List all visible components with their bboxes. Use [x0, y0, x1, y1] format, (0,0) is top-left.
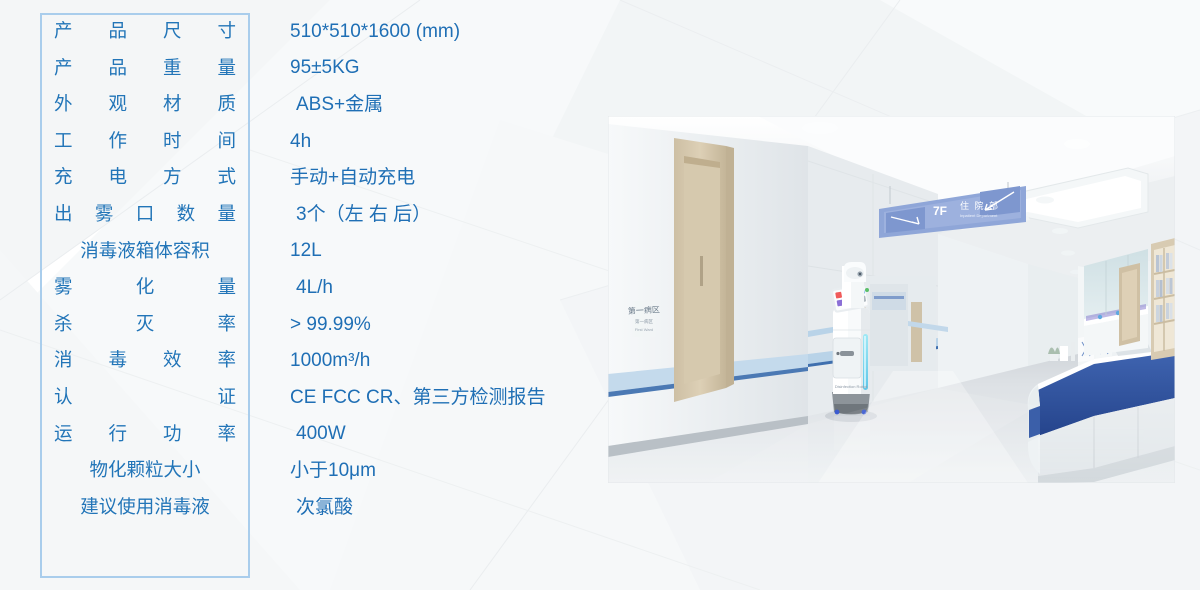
svg-text:First Ward: First Ward: [635, 327, 653, 332]
spec-label-operating-power: 运行功率: [40, 416, 250, 453]
spec-value-operating-power: 400W: [296, 416, 346, 453]
spec-label-atomization-rate: 雾化量: [40, 269, 250, 306]
spec-label-product-size: 产品尺寸: [40, 13, 250, 50]
spec-label-text: 物化颗粒大小: [54, 461, 236, 480]
svg-text:Inpatient Department: Inpatient Department: [960, 213, 998, 218]
spec-row: 充电方式 手动+自动充电: [40, 159, 600, 196]
spec-row: 工作时间 4h: [40, 123, 600, 160]
svg-text:第一病区: 第一病区: [628, 304, 660, 316]
spec-label-product-weight: 产品重量: [40, 50, 250, 87]
spec-label-recommended-disinfectant: 建议使用消毒液: [40, 489, 250, 526]
spec-label-text: 产品尺寸: [54, 22, 236, 41]
spec-row: 杀灭率 > 99.99%: [40, 306, 600, 343]
spec-value-product-weight: 95±5KG: [290, 50, 360, 87]
spec-value-recommended-disinfectant: 次氯酸: [296, 489, 353, 526]
spec-value-atomization-rate: 4L/h: [296, 269, 333, 306]
spec-value-appearance-material: ABS+金属: [296, 86, 383, 123]
spec-value-working-time: 4h: [290, 123, 311, 160]
spec-label-text: 建议使用消毒液: [54, 498, 236, 517]
spec-label-disinfection-efficiency: 消毒效率: [40, 342, 250, 379]
spec-value-kill-rate: > 99.99%: [290, 306, 371, 343]
spec-label-text: 产品重量: [54, 59, 236, 78]
spec-label-text: 出雾口数量: [54, 205, 236, 224]
spec-label-particle-size: 物化颗粒大小: [40, 452, 250, 489]
spec-value-particle-size: 小于10μm: [290, 452, 376, 489]
spec-value-tank-capacity: 12L: [290, 233, 322, 270]
spec-row: 物化颗粒大小 小于10μm: [40, 452, 600, 489]
svg-text:Disinfection Robot: Disinfection Robot: [835, 384, 868, 389]
spec-label-text: 外观材质: [54, 95, 236, 114]
spec-label-text: 雾化量: [54, 278, 236, 297]
spec-row: 外观材质 ABS+金属: [40, 86, 600, 123]
spec-label-text: 消毒液箱体容积: [54, 242, 236, 261]
spec-label-text: 消毒效率: [54, 351, 236, 370]
spec-row: 出雾口数量 3个（左 右 后）: [40, 196, 600, 233]
spec-row: 产品重量 95±5KG: [40, 50, 600, 87]
spec-label-appearance-material: 外观材质: [40, 86, 250, 123]
spec-row: 产品尺寸 510*510*1600 (mm): [40, 13, 600, 50]
spec-row: 建议使用消毒液 次氯酸: [40, 489, 600, 526]
spec-row: 运行功率 400W: [40, 416, 600, 453]
spec-value-charging-method: 手动+自动充电: [290, 159, 415, 196]
shelving-unit: [1151, 238, 1175, 360]
spec-value-product-size: 510*510*1600 (mm): [290, 13, 460, 50]
spec-value-disinfection-efficiency: 1000m³/h: [290, 342, 370, 379]
spec-label-text: 运行功率: [54, 425, 236, 444]
spec-label-text: 认证: [54, 388, 236, 407]
door-sign: 第一病区 第一病区 First Ward: [628, 301, 660, 337]
spec-label-text: 工作时间: [54, 132, 236, 151]
spec-label-tank-capacity: 消毒液箱体容积: [40, 233, 250, 270]
spec-label-text: 杀灭率: [54, 315, 236, 334]
svg-text:7F: 7F: [933, 204, 947, 218]
svg-text:住 院 部: 住 院 部: [960, 200, 1000, 211]
spec-row: 消毒效率 1000m³/h: [40, 342, 600, 379]
spec-label-mist-outlet-count: 出雾口数量: [40, 196, 250, 233]
spec-label-charging-method: 充电方式: [40, 159, 250, 196]
spec-label-working-time: 工作时间: [40, 123, 250, 160]
spec-row: 认证 CE FCC CR、第三方检测报告: [40, 379, 600, 416]
spec-table: 产品尺寸 510*510*1600 (mm) 产品重量 95±5KG 外观材质 …: [40, 13, 600, 525]
spec-value-certification: CE FCC CR、第三方检测报告: [290, 379, 545, 416]
hospital-corridor-photo: 第一病区 第一病区 First Ward 7F 住 院 部 Inpatient …: [608, 116, 1175, 483]
spec-label-certification: 认证: [40, 379, 250, 416]
spec-row: 消毒液箱体容积 12L: [40, 233, 600, 270]
spec-label-text: 充电方式: [54, 168, 236, 187]
spec-row: 雾化量 4L/h: [40, 269, 600, 306]
svg-text:第一病区: 第一病区: [635, 318, 653, 325]
spec-label-kill-rate: 杀灭率: [40, 306, 250, 343]
spec-value-mist-outlet-count: 3个（左 右 后）: [296, 196, 431, 233]
